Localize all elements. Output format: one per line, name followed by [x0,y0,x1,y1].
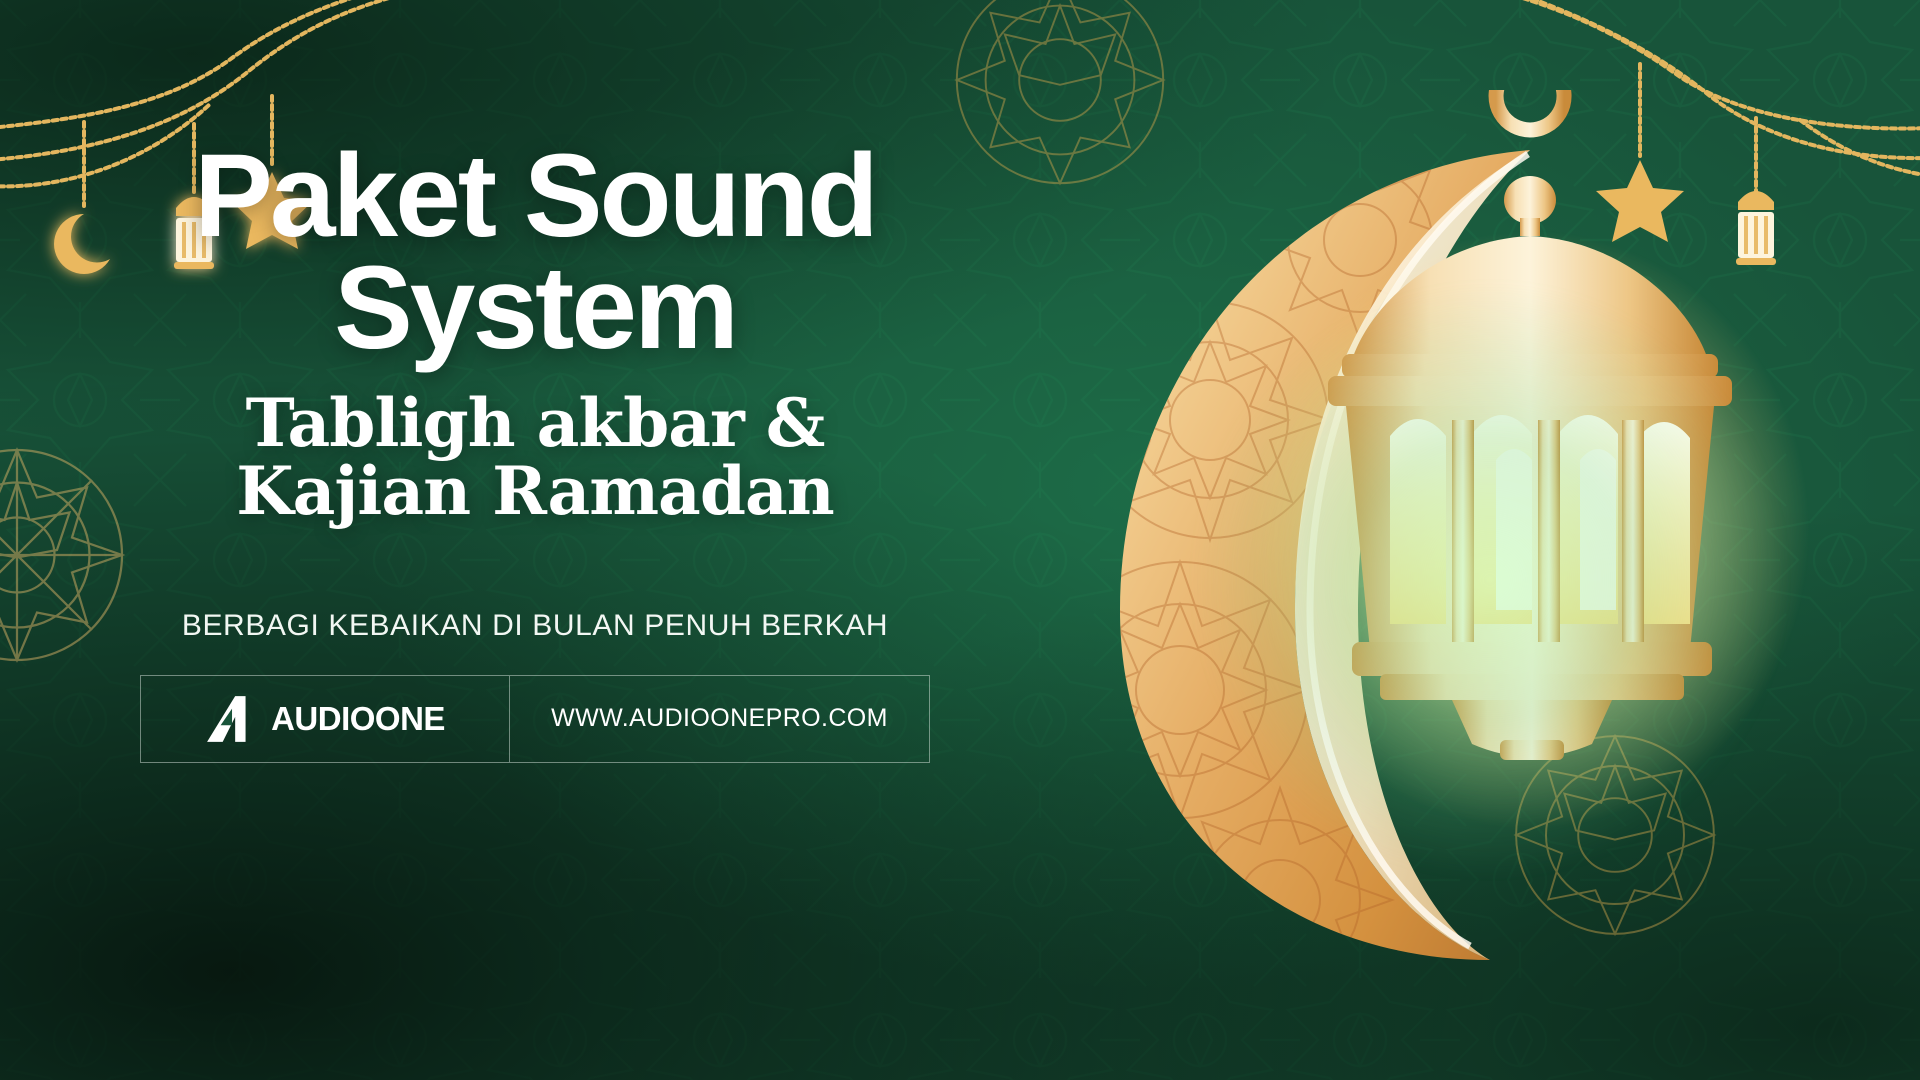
website-url[interactable]: WWW.AUDIOONEPRO.COM [551,704,888,733]
subtitle-line-2: Kajian Ramadan [140,458,930,525]
crescent-and-lantern-artwork [1060,90,1880,970]
ramadan-promo-banner: Paket Sound System Tabligh akbar & Kajia… [0,0,1920,1080]
page-title: Paket Sound System [140,140,930,364]
brand-block: AUDIOONE [141,676,509,762]
subtitle-line-1: Tabligh akbar & [140,390,930,457]
headline-line-2: System [140,252,930,364]
banner-content: Paket Sound System Tabligh akbar & Kajia… [140,140,930,763]
brand-name: AUDIOONE [271,700,445,738]
website-block[interactable]: WWW.AUDIOONEPRO.COM [510,676,929,762]
headline-line-1: Paket Sound [140,140,930,252]
tagline: BERBAGI KEBAIKAN DI BULAN PENUH BERKAH [140,609,930,643]
islamic-mandala-icon [0,430,142,680]
footer-bar: AUDIOONE WWW.AUDIOONEPRO.COM [140,675,930,763]
subtitle: Tabligh akbar & Kajian Ramadan [140,390,930,525]
lantern-glow [1180,270,1800,890]
audioone-logo-icon [205,693,257,745]
